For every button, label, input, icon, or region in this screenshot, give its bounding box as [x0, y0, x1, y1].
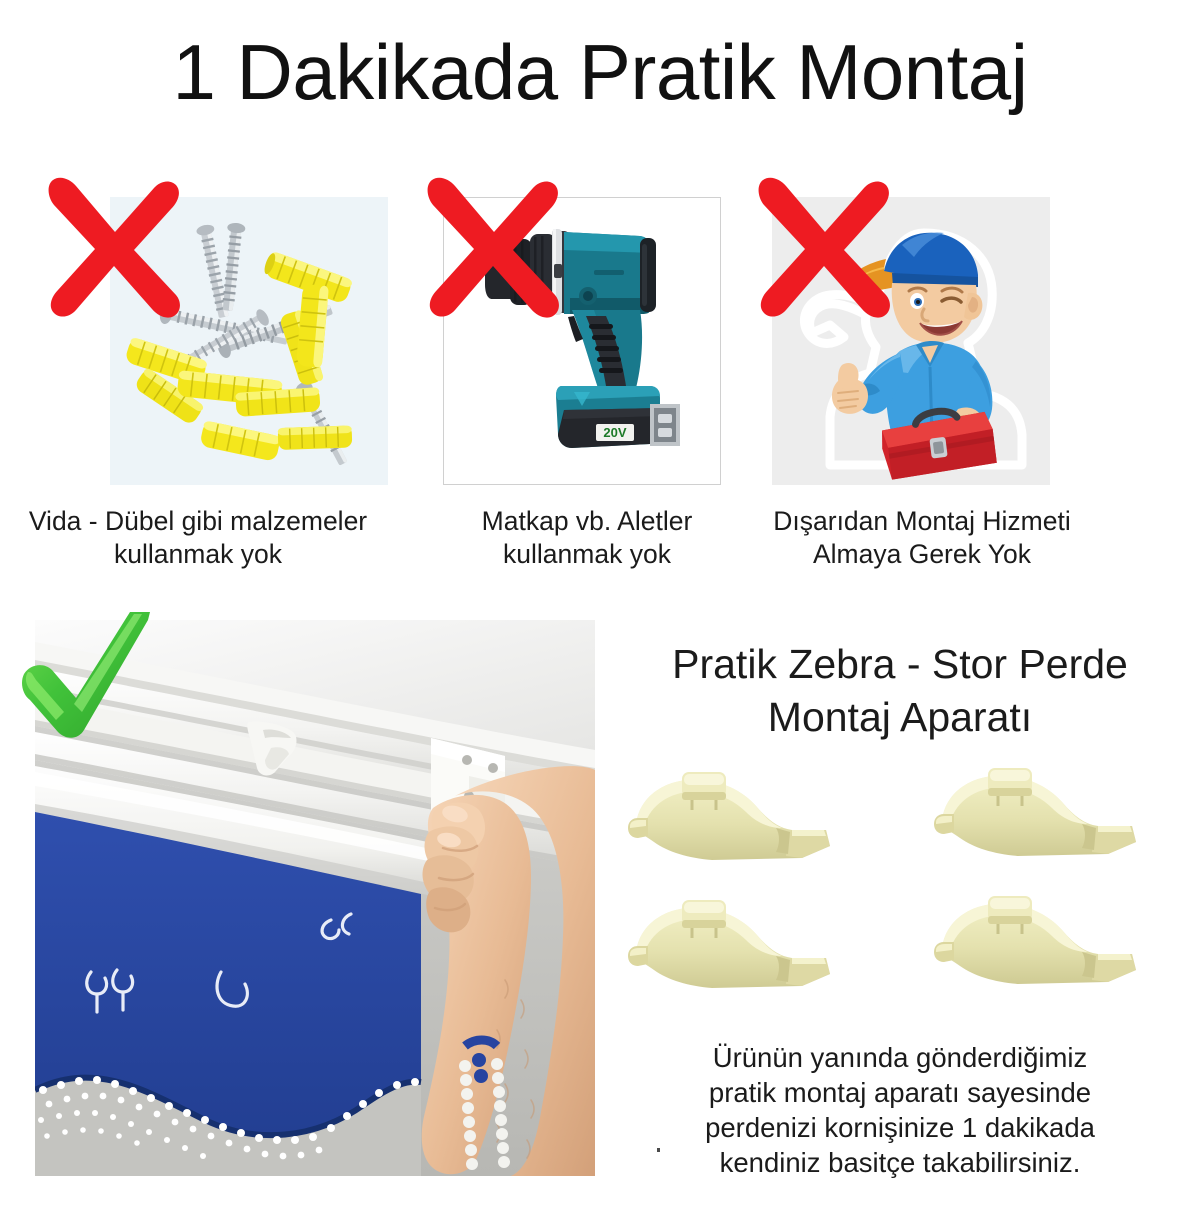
description-line-2: pratik montaj aparatı sayesinde — [709, 1077, 1091, 1108]
caption-line-1: Matkap vb. Aletler — [482, 506, 693, 536]
description-line-3: perdenizi kornişinize 1 dakikada — [705, 1112, 1095, 1143]
forbidden-item-caption: Matkap vb. Aletler kullanmak yok — [417, 505, 757, 571]
product-description-paragraph: Ürünün yanında gönderdiğimiz pratik mont… — [600, 1040, 1200, 1180]
svg-text:20V: 20V — [603, 425, 626, 440]
stray-dot-artifact — [657, 1148, 660, 1152]
caption-line-2: Almaya Gerek Yok — [813, 539, 1031, 569]
forbidden-items-row: Vida - Dübel gibi malzemeler kullanmak y… — [0, 160, 1200, 580]
screws-and-wall-plugs-photo — [110, 197, 388, 485]
caption-line-2: kullanmak yok — [114, 539, 282, 569]
forbidden-item-external-service: Dışarıdan Montaj Hizmeti Almaya Gerek Yo… — [758, 160, 1098, 580]
cordless-drill-photo: 20V — [443, 197, 721, 485]
product-heading: Pratik Zebra - Stor Perde Montaj Aparatı — [600, 638, 1200, 744]
product-infographic: 1 Dakikada Pratik Montaj — [0, 0, 1200, 1215]
product-heading-line-2: Montaj Aparatı — [768, 694, 1032, 740]
caption-line-1: Vida - Dübel gibi malzemeler — [29, 506, 367, 536]
description-line-4: kendiniz basitçe takabilirsiniz. — [720, 1147, 1081, 1178]
plastic-mounting-clip — [626, 900, 846, 1004]
mounting-clips-group — [612, 762, 1188, 1014]
caption-line-1: Dışarıdan Montaj Hizmeti — [773, 506, 1071, 536]
page-title: 1 Dakikada Pratik Montaj — [0, 26, 1200, 118]
plastic-mounting-clip — [932, 768, 1152, 872]
product-heading-line-1: Pratik Zebra - Stor Perde — [672, 641, 1128, 687]
forbidden-item-screws: Vida - Dübel gibi malzemeler kullanmak y… — [28, 160, 368, 580]
caption-line-2: kullanmak yok — [503, 539, 671, 569]
forbidden-item-caption: Dışarıdan Montaj Hizmeti Almaya Gerek Yo… — [752, 505, 1092, 571]
handyman-cartoon — [772, 197, 1050, 485]
plastic-mounting-clip — [932, 896, 1152, 1000]
plastic-mounting-clip — [626, 772, 846, 876]
description-line-1: Ürünün yanında gönderdiğimiz — [713, 1042, 1088, 1073]
forbidden-item-caption: Vida - Dübel gibi malzemeler kullanmak y… — [28, 505, 368, 571]
forbidden-item-drill: 20V — [425, 160, 765, 580]
green-check-mark-icon — [18, 612, 154, 754]
